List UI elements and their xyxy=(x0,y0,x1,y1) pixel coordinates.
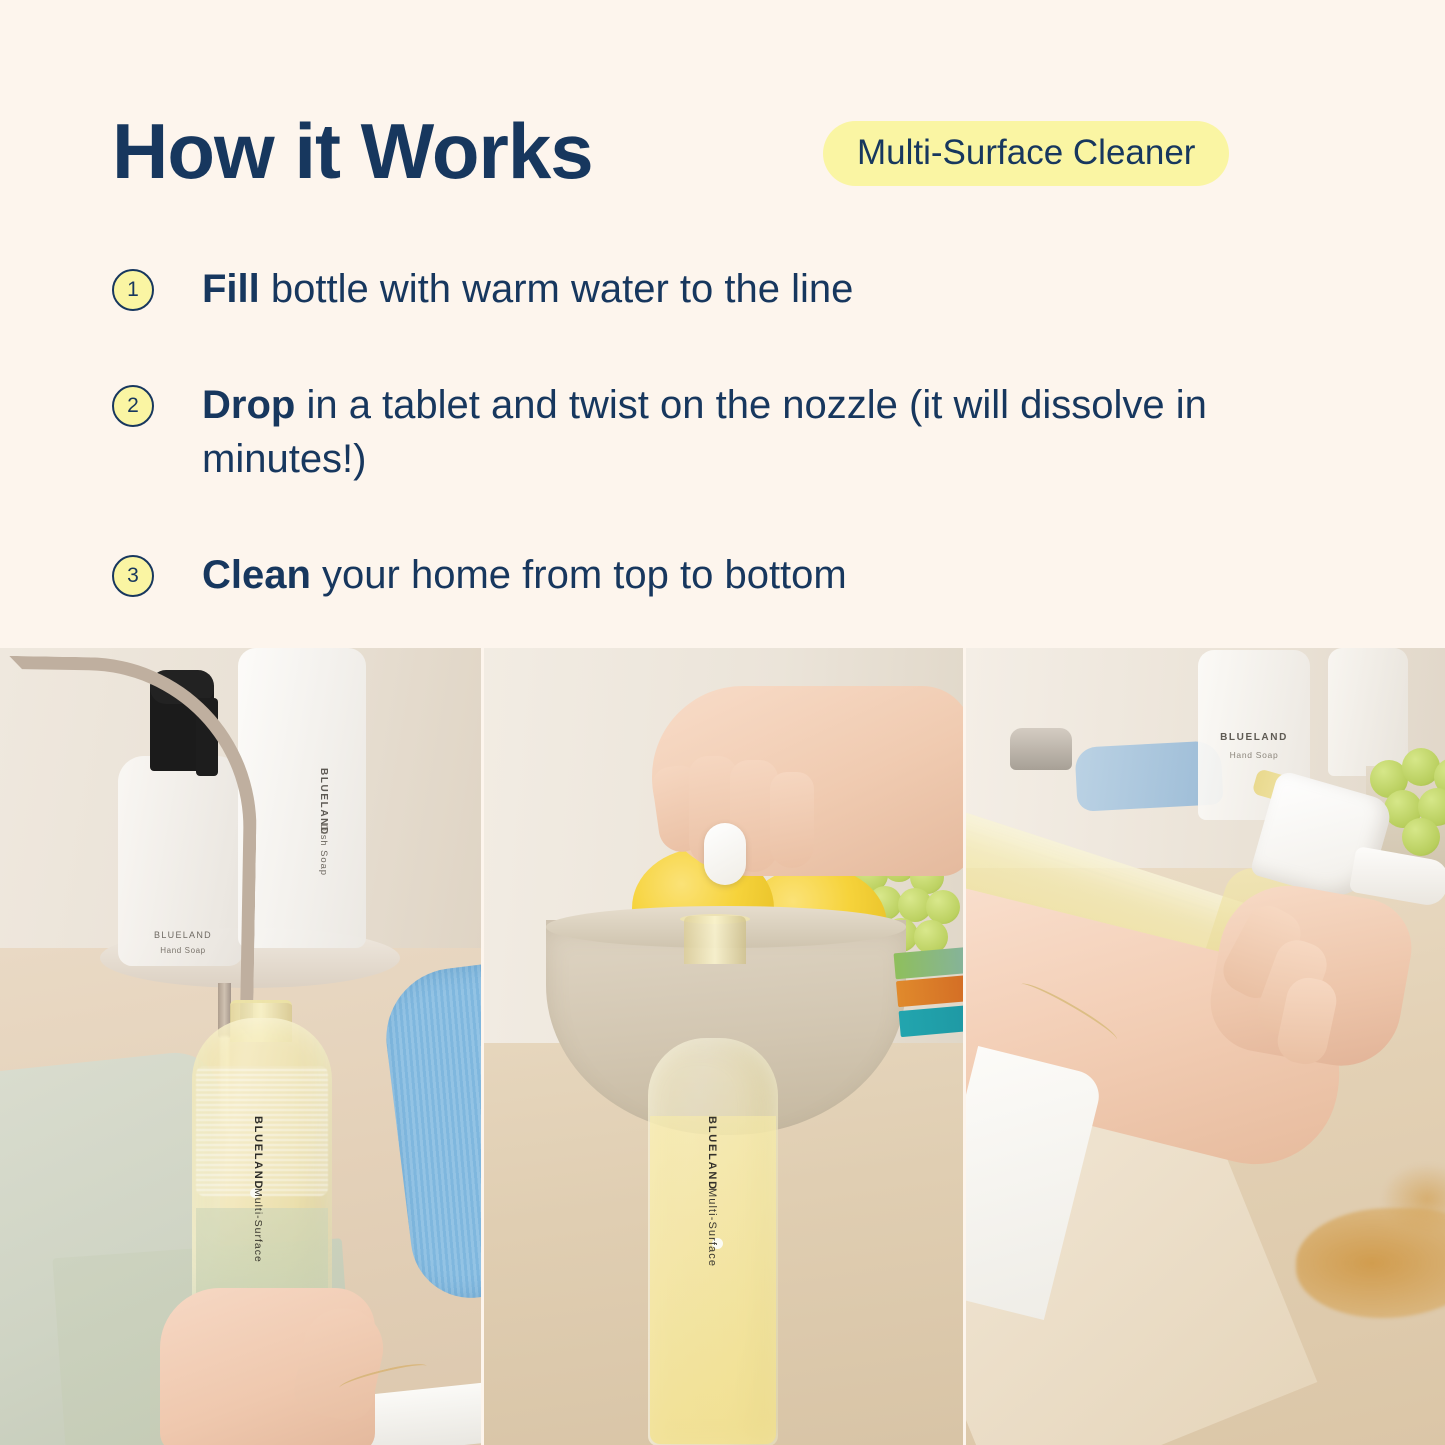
grape xyxy=(1402,818,1440,856)
page-title: How it Works xyxy=(112,112,593,190)
step-text-2: Drop in a tablet and twist on the nozzle… xyxy=(202,378,1352,486)
grape xyxy=(926,890,960,924)
product-badge: Multi-Surface Cleaner xyxy=(823,121,1229,186)
step-number-badge-2: 2 xyxy=(112,385,154,427)
panel2-cleaning-tablet xyxy=(704,823,746,885)
panel3-faucet-knob xyxy=(1010,728,1072,770)
step-item-3: 3 Clean your home from top to bottom xyxy=(112,548,1352,602)
header-section: How it Works Multi-Surface Cleaner 1 Fil… xyxy=(0,0,1445,648)
step-number-badge-1: 1 xyxy=(112,269,154,311)
panel1-dish-soap-product-label: Dish Soap xyxy=(318,824,329,876)
panel3-hand-soap-brand-label: BLUELAND xyxy=(1198,732,1310,743)
photo-panel-drop-tablet: BLUELAND Multi-Surface xyxy=(484,648,963,1445)
panel2-finger xyxy=(770,772,814,868)
step-rest-2: in a tablet and twist on the nozzle (it … xyxy=(202,383,1207,481)
step-item-1: 1 Fill bottle with warm water to the lin… xyxy=(112,262,1352,316)
panel3-hand-soap-product-label: Hand Soap xyxy=(1198,750,1310,760)
panel2-bottle-product-label: Multi-Surface xyxy=(706,1188,718,1267)
step-text-1: Fill bottle with warm water to the line xyxy=(202,262,853,316)
step-emphasis-3: Clean xyxy=(202,553,311,597)
how-it-works-poster: How it Works Multi-Surface Cleaner 1 Fil… xyxy=(0,0,1445,1445)
step-emphasis-2: Drop xyxy=(202,383,295,427)
step-emphasis-1: Fill xyxy=(202,267,260,311)
step-number-badge-3: 3 xyxy=(112,555,154,597)
panel2-bottle-neck xyxy=(684,916,746,964)
step-rest-1: bottle with warm water to the line xyxy=(260,267,854,311)
step-rest-3: your home from top to bottom xyxy=(311,553,847,597)
step-item-2: 2 Drop in a tablet and twist on the nozz… xyxy=(112,378,1352,486)
panel1-dish-soap-bottle xyxy=(238,648,366,948)
steps-list: 1 Fill bottle with warm water to the lin… xyxy=(112,262,1352,602)
panel3-background-bottle xyxy=(1328,648,1408,776)
title-row: How it Works Multi-Surface Cleaner xyxy=(112,112,1362,212)
photo-panel-twist-nozzle: BLUELAND Hand Soap BLUELAND Multi-Surfac… xyxy=(966,648,1445,1445)
panel1-bottle-brand-label: BLUELAND xyxy=(252,1116,264,1190)
panel2-book-stack xyxy=(894,943,963,1061)
photo-panel-fill-bottle: BLUELAND Hand Soap BLUELAND Dish Soap BL… xyxy=(0,648,481,1445)
panel1-bottle-product-label: Multi-Surface xyxy=(252,1188,264,1263)
photo-strip: BLUELAND Hand Soap BLUELAND Dish Soap BL… xyxy=(0,648,1445,1445)
step-text-3: Clean your home from top to bottom xyxy=(202,548,847,602)
panel2-bottle-brand-label: BLUELAND xyxy=(706,1116,718,1191)
